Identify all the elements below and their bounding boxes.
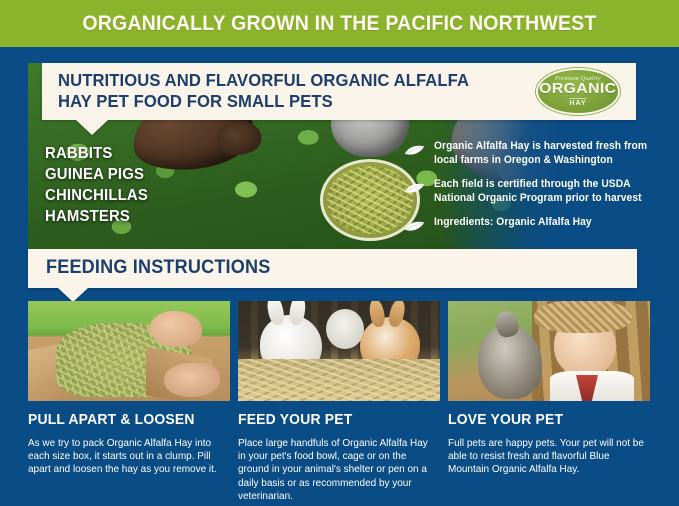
pet-list-item-hamsters: HAMSTERS [45, 206, 148, 227]
feeding-step-card: LOVE YOUR PET Full pets are happy pets. … [448, 301, 650, 503]
badge-main-text: ORGANIC [539, 81, 616, 97]
rabbit-background [326, 309, 364, 349]
hand-lower [164, 363, 220, 397]
hero-bullet-item: Ingredients: Organic Alfalfa Hay [404, 216, 654, 230]
hero-title: NUTRITIOUS AND FLAVORFUL ORGANIC ALFALFA… [58, 70, 495, 112]
feeding-step-card: FEED YOUR PET Place large handfuls of Or… [238, 301, 440, 503]
boy-kissing-rabbit-photo [448, 301, 650, 401]
hero-title-card: NUTRITIOUS AND FLAVORFUL ORGANIC ALFALFA… [42, 63, 636, 120]
banner-headline: ORGANICALLY GROWN IN THE PACIFIC NORTHWE… [82, 12, 596, 36]
hero-bullet-text: Each field is certified through the USDA… [434, 178, 647, 205]
feeding-instructions-title: FEEDING INSTRUCTIONS [46, 257, 270, 279]
top-banner: ORGANICALLY GROWN IN THE PACIFIC NORTHWE… [0, 0, 679, 47]
feeding-steps-row: PULL APART & LOOSEN As we try to pack Or… [28, 301, 651, 503]
hero-feature-bullets: Organic Alfalfa Hay is harvested fresh f… [404, 140, 654, 241]
hand-upper [150, 311, 202, 347]
hero-bullet-item: Each field is certified through the USDA… [404, 178, 654, 205]
feeding-step-card: PULL APART & LOOSEN As we try to pack Or… [28, 301, 230, 503]
feeding-step-body: As we try to pack Organic Alfalfa Hay in… [28, 437, 226, 477]
leaf-icon [404, 143, 425, 154]
hay-straw-bedding [238, 359, 440, 401]
feeding-step-title: PULL APART & LOOSEN [28, 412, 222, 428]
target-pets-list: RABBITS GUINEA PIGS CHINCHILLAS HAMSTERS [45, 143, 148, 227]
grey-rabbit-ear [493, 309, 521, 340]
feeding-step-title: FEED YOUR PET [238, 412, 432, 428]
feeding-instructions-band: FEEDING INSTRUCTIONS [28, 249, 637, 288]
feeding-step-body: Full pets are happy pets. Your pet will … [448, 437, 646, 477]
pet-list-item-chinchillas: CHINCHILLAS [45, 185, 148, 206]
rabbits-eating-hay-photo [238, 301, 440, 401]
hands-pulling-hay-from-box-photo [28, 301, 230, 401]
feeding-step-body: Place large handfuls of Organic Alfalfa … [238, 437, 436, 503]
title-card-notch [76, 120, 108, 135]
leaf-icon [404, 181, 425, 192]
white-rabbit-right-ear [288, 301, 307, 326]
hero-bullet-text: Ingredients: Organic Alfalfa Hay [434, 216, 592, 230]
feeding-step-title: LOVE YOUR PET [448, 412, 642, 428]
straw-hat [534, 301, 632, 333]
organic-hay-badge: Premium Quality ORGANIC HAY [536, 68, 620, 115]
pet-list-item-guinea-pigs: GUINEA PIGS [45, 164, 148, 185]
product-infographic-poster: ORGANICALLY GROWN IN THE PACIFIC NORTHWE… [0, 0, 679, 506]
badge-sub-text: HAY [569, 98, 586, 107]
feeding-band-notch [58, 288, 88, 302]
hero-bullet-item: Organic Alfalfa Hay is harvested fresh f… [404, 140, 654, 167]
pet-list-item-rabbits: RABBITS [45, 143, 148, 164]
hero-bullet-text: Organic Alfalfa Hay is harvested fresh f… [434, 140, 647, 167]
leaf-icon [404, 219, 425, 230]
